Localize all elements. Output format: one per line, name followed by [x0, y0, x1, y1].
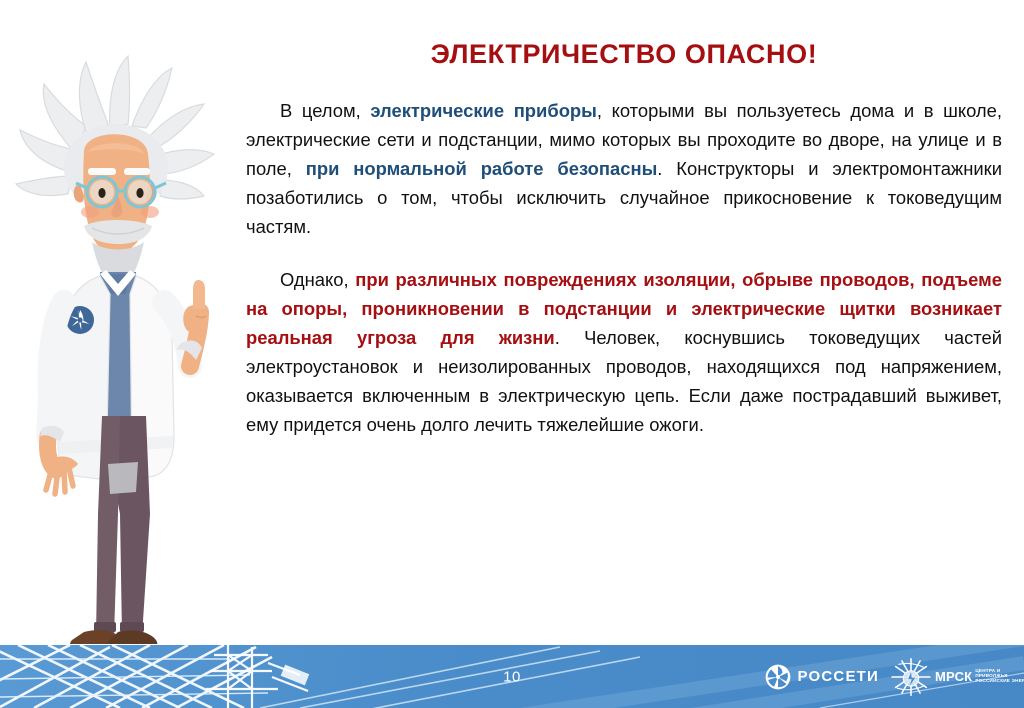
mrsk-subtitle: ЦЕНТРА И ПРИВОЛЖЬЯ РОССИЙСКИЕ ЭНЕРГЕТИЧЕ… [975, 669, 1024, 684]
run-text: В целом, [280, 100, 370, 121]
mrsk-abbreviation: МРСК [935, 670, 972, 683]
mrsk-wordmark: МРСК ЦЕНТРА И ПРИВОЛЖЬЯ РОССИЙСКИЕ ЭНЕРГ… [935, 669, 1024, 684]
highlight-electrical-devices: электрические приборы [370, 100, 597, 121]
scientist-illustration [14, 44, 236, 644]
rosseti-wordmark: РОССЕТИ [798, 668, 880, 685]
content-column: ЭЛЕКТРИЧЕСТВО ОПАСНО! В целом, электриче… [246, 40, 1002, 439]
footer-bar: 10 РОССЕТИ [0, 645, 1024, 708]
paragraph-1: В целом, электрические приборы, которыми… [246, 96, 1002, 241]
mrsk-logo: МРСК ЦЕНТРА И ПРИВОЛЖЬЯ РОССИЙСКИЕ ЭНЕРГ… [890, 655, 1016, 699]
rosseti-logo: РОССЕТИ [765, 664, 880, 690]
paragraph-2: Однако, при различных повреждениях изоля… [246, 265, 1002, 439]
page-title: ЭЛЕКТРИЧЕСТВО ОПАСНО! [246, 40, 1002, 70]
rosseti-pinwheel-icon [765, 664, 791, 690]
mrsk-sunburst-icon [890, 656, 932, 698]
highlight-safe-in-normal-operation: при нормальной работе безопасны [306, 158, 658, 179]
slide: ЭЛЕКТРИЧЕСТВО ОПАСНО! В целом, электриче… [0, 0, 1024, 708]
run-text: Однако, [280, 269, 355, 290]
mrsk-tagline: РОССИЙСКИЕ ЭНЕРГЕТИЧЕСКИЕ СЕТИ [975, 679, 1024, 684]
